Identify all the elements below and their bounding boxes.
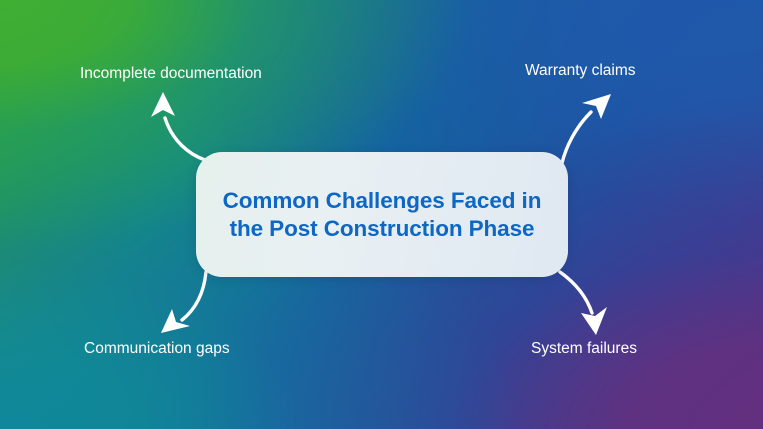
curved-arrow-down-left-icon	[161, 272, 206, 333]
curved-arrow-up-left-icon	[151, 92, 205, 160]
node-label-incomplete-documentation: Incomplete documentation	[80, 64, 262, 84]
node-label-warranty-claims: Warranty claims	[525, 61, 636, 81]
node-label-communication-gaps: Communication gaps	[84, 339, 230, 359]
curved-arrow-up-right-icon	[562, 94, 611, 163]
diagram-canvas: Common Challenges Faced in the Post Cons…	[0, 0, 763, 429]
curved-arrow-down-right-icon	[560, 272, 607, 335]
node-label-system-failures: System failures	[531, 339, 637, 359]
center-card: Common Challenges Faced in the Post Cons…	[196, 152, 568, 277]
center-card-title: Common Challenges Faced in the Post Cons…	[223, 187, 542, 243]
